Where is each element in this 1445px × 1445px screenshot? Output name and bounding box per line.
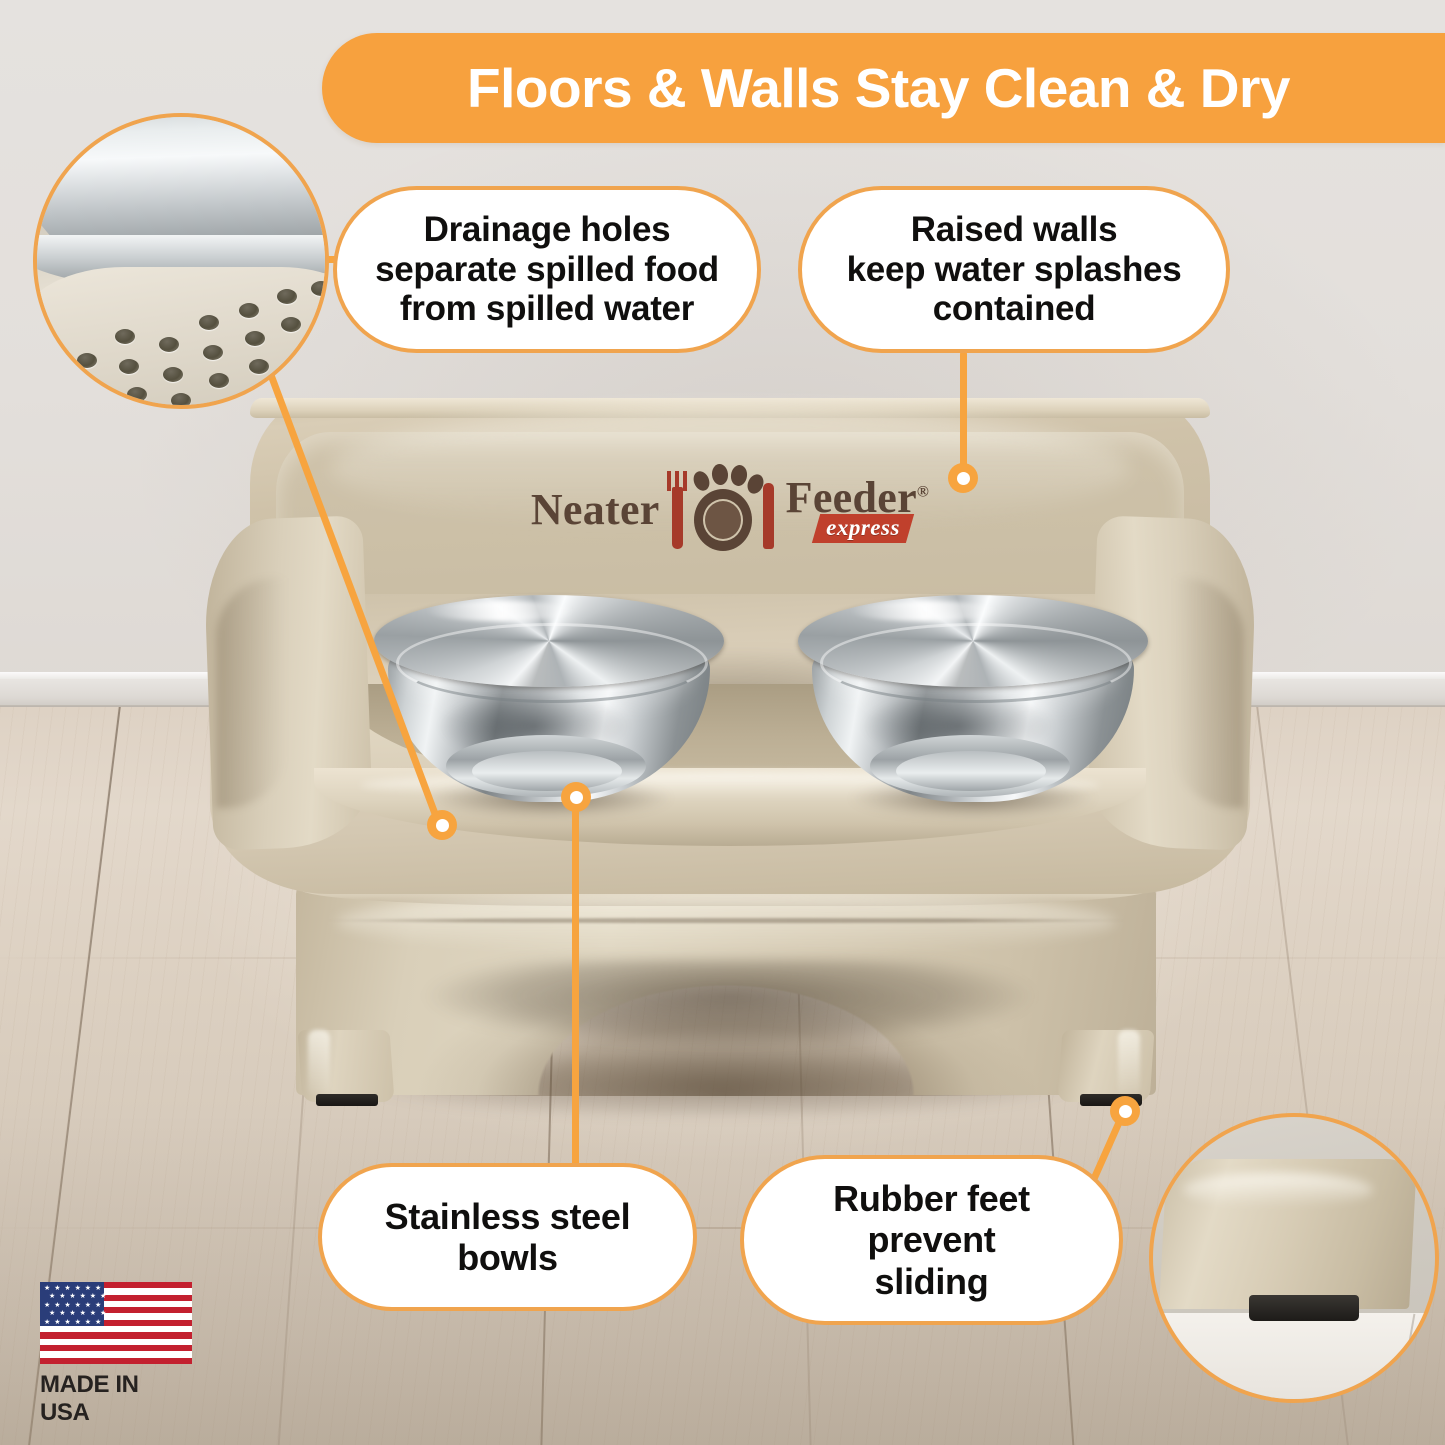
callout-bubble-drainage-holes: Drainage holes separate spilled food fro… <box>333 186 761 353</box>
flag-star-icon: ★ <box>80 1310 86 1317</box>
flag-star-icon: ★ <box>44 1319 50 1326</box>
flag-star-icon: ★ <box>69 1310 75 1317</box>
callout-bubble-raised-walls: Raised walls keep water splashes contain… <box>798 186 1230 353</box>
infographic-canvas: Neater Feeder® express <box>0 0 1445 1445</box>
connector-bowls-line <box>572 795 579 1170</box>
usa-flag-icon: ★★★★★★★★★★★★★★★★★★★★★★★★★★★★★★ <box>40 1282 192 1364</box>
flag-star-icon: ★ <box>85 1319 91 1326</box>
header-banner-text: Floors & Walls Stay Clean & Dry <box>467 56 1300 120</box>
callout-dot-raised-walls <box>948 463 978 493</box>
flag-star-icon: ★ <box>69 1293 75 1300</box>
flag-star-icon: ★ <box>54 1319 60 1326</box>
flag-star-icon: ★ <box>85 1302 91 1309</box>
flag-star-icon: ★ <box>64 1302 70 1309</box>
callout-dot-drainage <box>427 810 457 840</box>
flag-star-icon: ★ <box>80 1293 86 1300</box>
inset-drainage-holes-closeup <box>33 113 329 409</box>
flag-star-icon: ★ <box>64 1285 70 1292</box>
flag-star-icon: ★ <box>95 1302 101 1309</box>
flag-star-icon: ★ <box>100 1293 106 1300</box>
flag-star-icon: ★ <box>90 1310 96 1317</box>
flag-star-icon: ★ <box>75 1302 81 1309</box>
header-banner: Floors & Walls Stay Clean & Dry <box>322 33 1445 143</box>
baseboard <box>0 679 1445 707</box>
closeup-leg-highlight <box>1183 1173 1373 1207</box>
callout-dot-bowls <box>561 782 591 812</box>
flag-star-icon: ★ <box>44 1285 50 1292</box>
flag-star-icon: ★ <box>59 1293 65 1300</box>
callout-text-rubber-feet: Rubber feet prevent sliding <box>833 1178 1030 1301</box>
flag-star-icon: ★ <box>59 1310 65 1317</box>
closeup-rubber-pad <box>1249 1295 1359 1321</box>
callout-text-drainage: Drainage holes separate spilled food fro… <box>375 210 719 330</box>
closeup-floor <box>1149 1313 1439 1403</box>
flag-canton: ★★★★★★★★★★★★★★★★★★★★★★★★★★★★★★ <box>40 1282 104 1326</box>
flag-star-icon: ★ <box>75 1319 81 1326</box>
flag-star-icon: ★ <box>64 1319 70 1326</box>
flag-star-icon: ★ <box>49 1310 55 1317</box>
callout-dot-rubber-feet <box>1110 1096 1140 1126</box>
flag-star-icon: ★ <box>90 1293 96 1300</box>
callout-bubble-rubber-feet: Rubber feet prevent sliding <box>740 1155 1123 1325</box>
flag-star-icon: ★ <box>100 1310 106 1317</box>
inset-rubber-foot-closeup <box>1149 1113 1439 1403</box>
flag-star-icon: ★ <box>85 1285 91 1292</box>
flag-star-icon: ★ <box>54 1302 60 1309</box>
flag-star-icon: ★ <box>75 1285 81 1292</box>
flag-star-icon: ★ <box>95 1285 101 1292</box>
flag-star-icon: ★ <box>44 1302 50 1309</box>
drainage-hole-plate <box>33 267 329 409</box>
made-in-usa-badge: ★★★★★★★★★★★★★★★★★★★★★★★★★★★★★★ MADE IN U… <box>40 1282 192 1404</box>
callout-text-raised-walls: Raised walls keep water splashes contain… <box>847 210 1182 330</box>
baseboard-top-edge <box>0 672 1445 679</box>
callout-text-stainless-bowls: Stainless steel bowls <box>385 1196 631 1278</box>
flag-star-icon: ★ <box>95 1319 101 1326</box>
flag-star-icon: ★ <box>54 1285 60 1292</box>
made-in-usa-label: MADE IN USA <box>40 1371 192 1427</box>
callout-bubble-stainless-bowls: Stainless steel bowls <box>318 1163 697 1311</box>
flag-star-icon: ★ <box>49 1293 55 1300</box>
